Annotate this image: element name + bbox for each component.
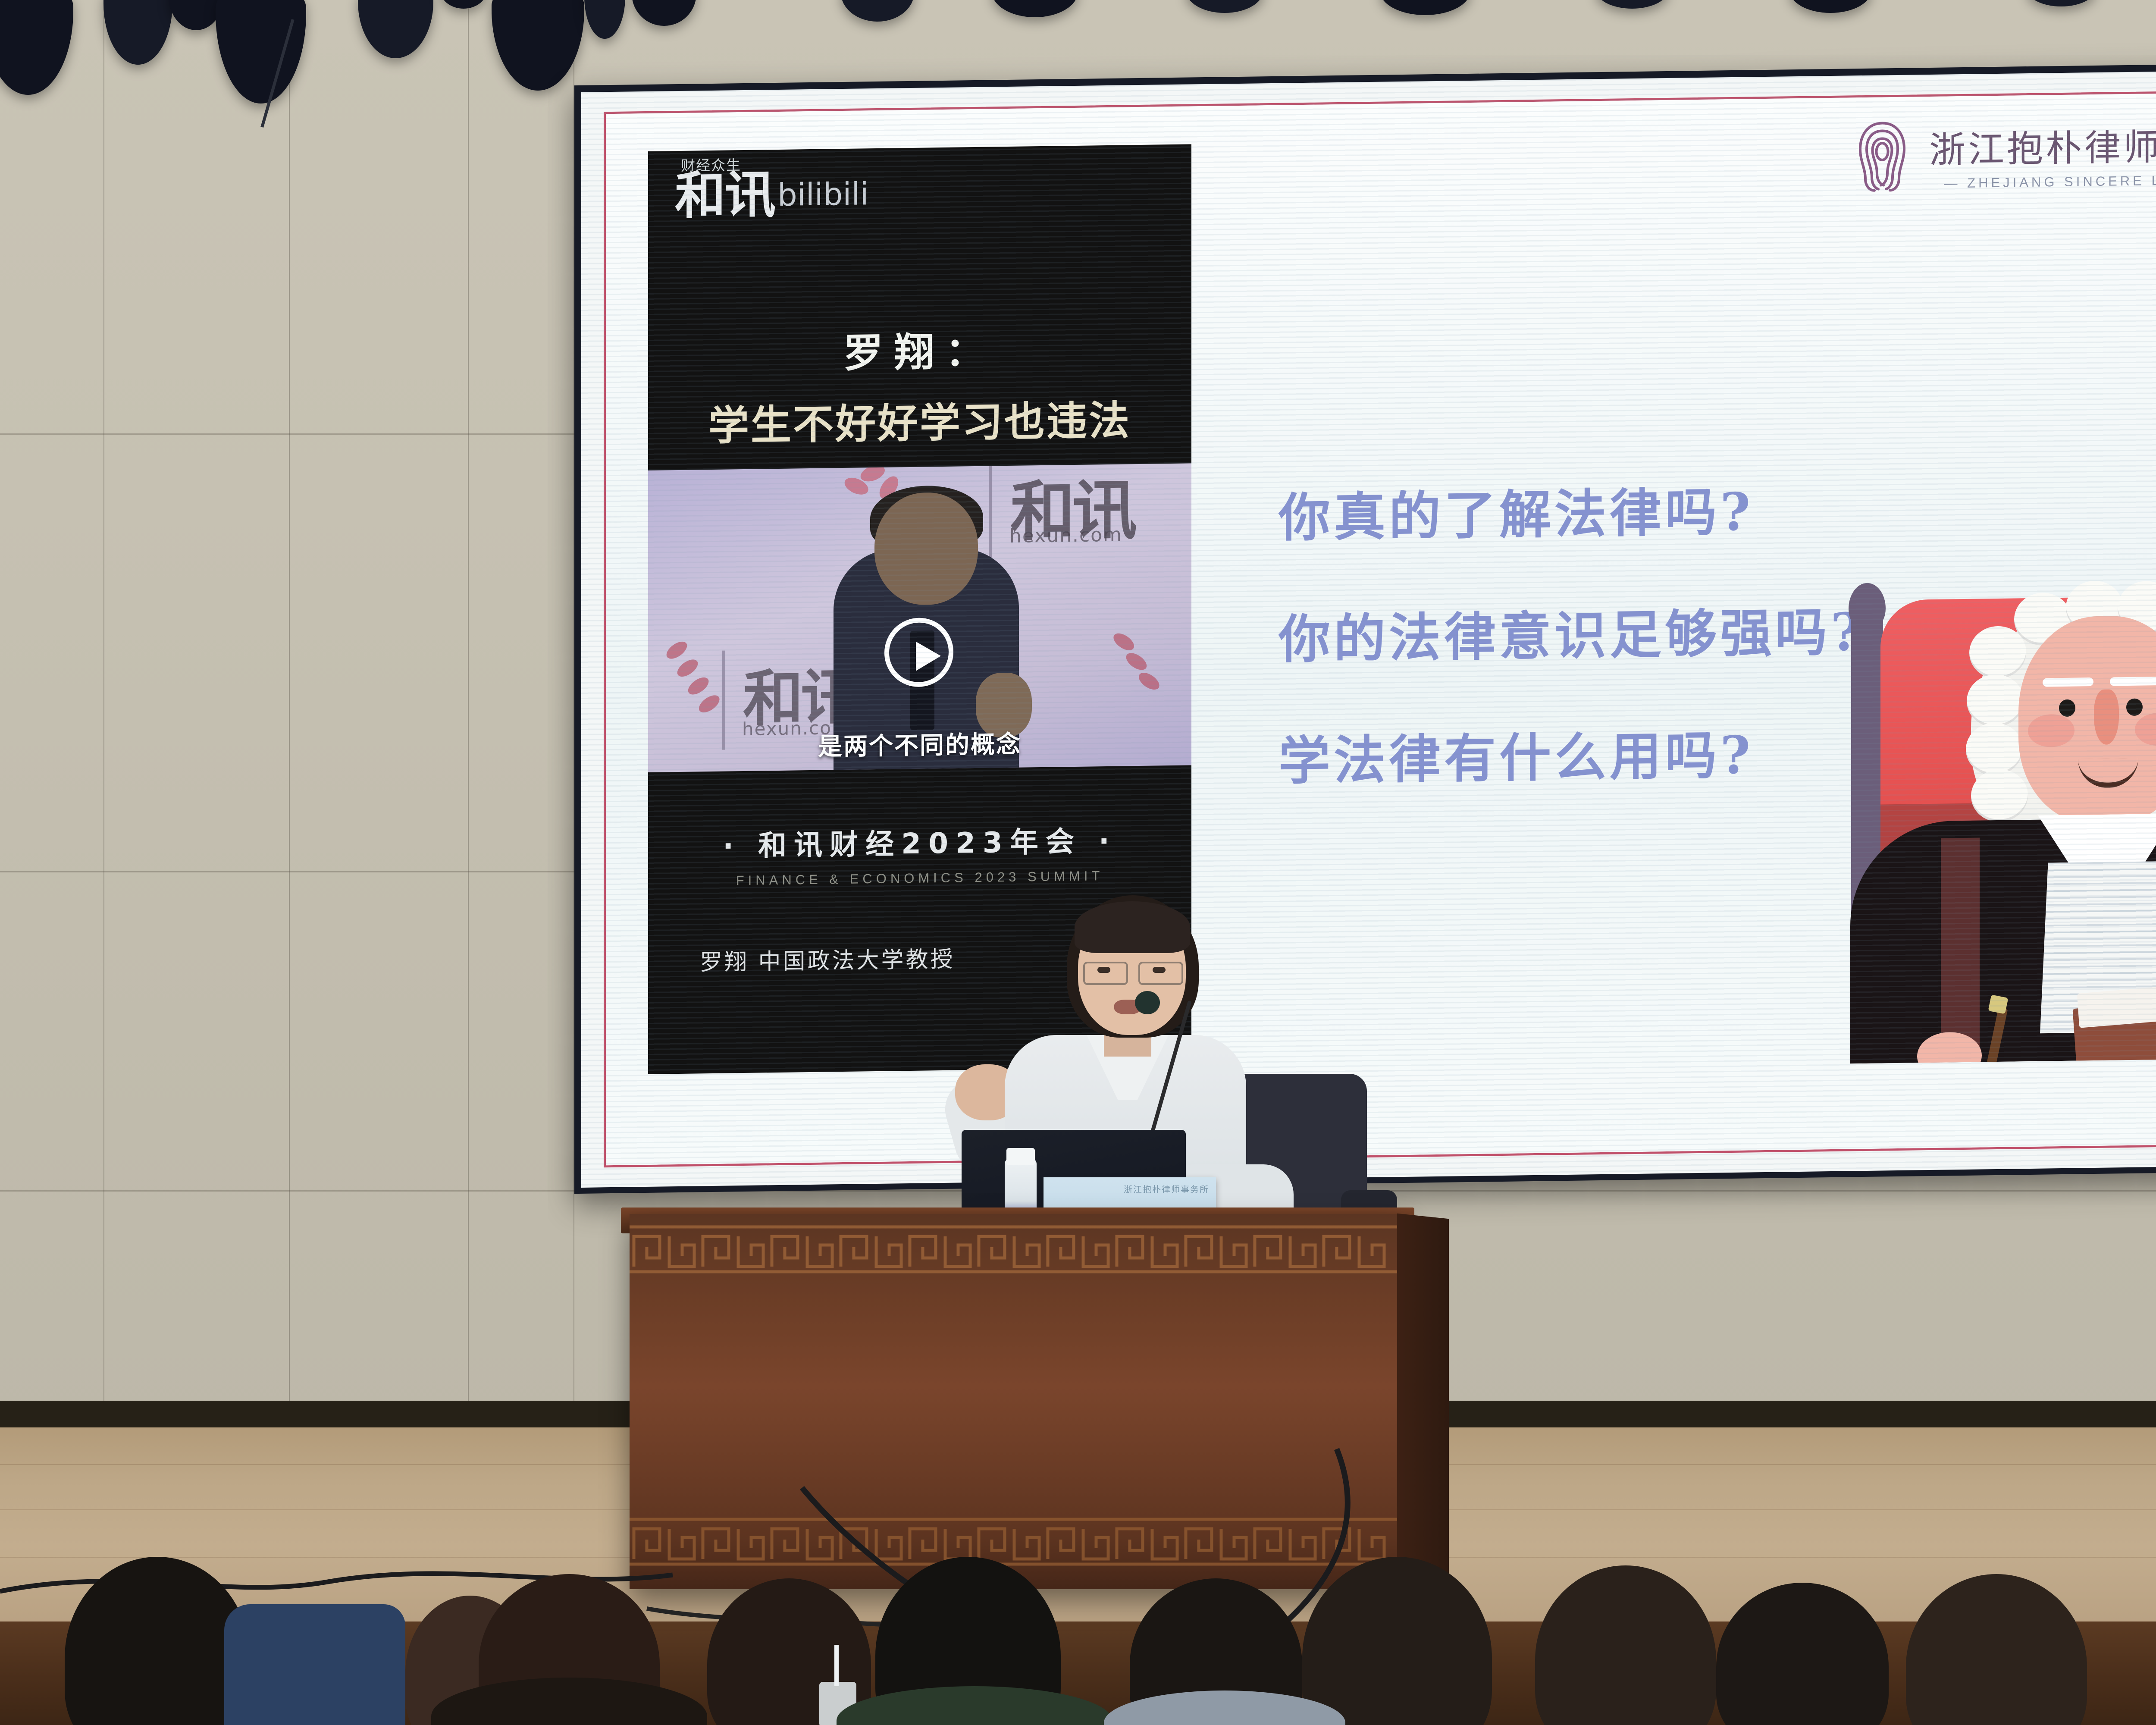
speaker-hair-front <box>1075 901 1190 953</box>
podium-meander-top <box>630 1223 1406 1275</box>
bilibili-logo: bilibili <box>777 176 868 219</box>
video-thumbnail-frame[interactable]: 和讯 hexun.com 和讯 hexun.com 是两个不同的概念 <box>648 463 1191 772</box>
nameplate-firm-text: 浙江抱朴律师事务所 <box>1124 1182 1209 1195</box>
speaker-eye-right <box>1153 967 1166 973</box>
law-firm-name-cn: 浙江抱朴律师事务所 <box>1929 116 2156 173</box>
slide-question-list: 你真的了解法律吗? 你的法律意识足够强吗? 学法律有什么用吗? <box>1279 468 1864 794</box>
law-firm-logo: 浙江抱朴律师事务所 — ZHEJIANG SINCERE LAW FIRM — <box>1850 113 2156 196</box>
speaker-eye-left <box>1097 967 1110 973</box>
backdrop-url: hexun.com <box>1009 524 1122 547</box>
judge-illustration <box>1842 556 2156 1064</box>
wall-panel-seam <box>289 0 290 1427</box>
wall-panel-seam <box>468 0 469 1427</box>
drink-straw <box>834 1645 839 1686</box>
audience-row <box>0 1501 2156 1725</box>
speaker-glasses-left <box>1083 962 1128 985</box>
video-event-name-cn: · 和讯财经2023年会 · <box>648 817 1191 865</box>
chair-post-cap-left <box>1849 583 1886 624</box>
audience-head <box>1906 1574 2087 1725</box>
video-speaker-head <box>874 492 978 605</box>
wreath-decor-icon <box>657 633 747 734</box>
slide-question-3: 学法律有什么用吗? <box>1279 712 1864 794</box>
video-title-block: 罗翔： 学生不好好学习也违法 <box>648 317 1191 452</box>
photo-scene: 浙江抱朴律师事务所 — ZHEJIANG SINCERE LAW FIRM — … <box>0 0 2156 1725</box>
judge-brow-right <box>2110 677 2156 686</box>
audience-head <box>65 1557 250 1725</box>
slide-canvas: 浙江抱朴律师事务所 — ZHEJIANG SINCERE LAW FIRM — … <box>606 91 2156 1165</box>
slide-border: 浙江抱朴律师事务所 — ZHEJIANG SINCERE LAW FIRM — … <box>604 88 2156 1168</box>
judge-brow-left <box>2043 677 2093 687</box>
judge-robe-stripe-left <box>1941 837 1980 1062</box>
video-channel-subtitle: 财经众生 <box>681 154 741 175</box>
wall-panel-seam <box>103 0 104 1427</box>
video-speaker-credit: 罗翔 中国政法大学教授 <box>700 941 955 977</box>
speaker-glasses-right <box>1138 962 1183 985</box>
play-triangle-icon <box>916 641 941 671</box>
fingerprint-ear-mark-icon <box>1850 117 1915 196</box>
blue-backpack <box>224 1604 405 1725</box>
audience-head <box>1716 1583 1889 1725</box>
microphone-head <box>1135 991 1160 1014</box>
video-title-line2: 学生不好好学习也违法 <box>648 387 1191 452</box>
video-channel-header: 财经众生 和讯 bilibili <box>675 169 868 220</box>
projection-screen: 浙江抱朴律师事务所 — ZHEJIANG SINCERE LAW FIRM — … <box>581 68 2156 1188</box>
water-bottle-cap <box>1006 1148 1035 1165</box>
slide-question-1: 你真的了解法律吗? <box>1279 468 1864 551</box>
video-title-line1: 罗翔： <box>648 317 1191 381</box>
video-event-block: · 和讯财经2023年会 · FINANCE & ECONOMICS 2023 … <box>648 817 1191 889</box>
slide-question-2: 你的法律意识足够强吗? <box>1279 590 1864 673</box>
law-firm-name-block: 浙江抱朴律师事务所 — ZHEJIANG SINCERE LAW FIRM — <box>1929 116 2156 191</box>
audience-head <box>1535 1565 1716 1725</box>
hexun-logo: 和讯 <box>675 170 775 220</box>
law-firm-name-en: — ZHEJIANG SINCERE LAW FIRM — <box>1929 171 2156 191</box>
judge-gavel-head <box>1988 994 2008 1014</box>
audience-head <box>1302 1557 1492 1725</box>
video-subtitle: 是两个不同的概念 <box>648 722 1191 764</box>
judge-nose <box>2094 689 2119 745</box>
video-event-name-en: FINANCE & ECONOMICS 2023 SUMMIT <box>648 867 1191 889</box>
wreath-decor-icon <box>1097 623 1187 724</box>
